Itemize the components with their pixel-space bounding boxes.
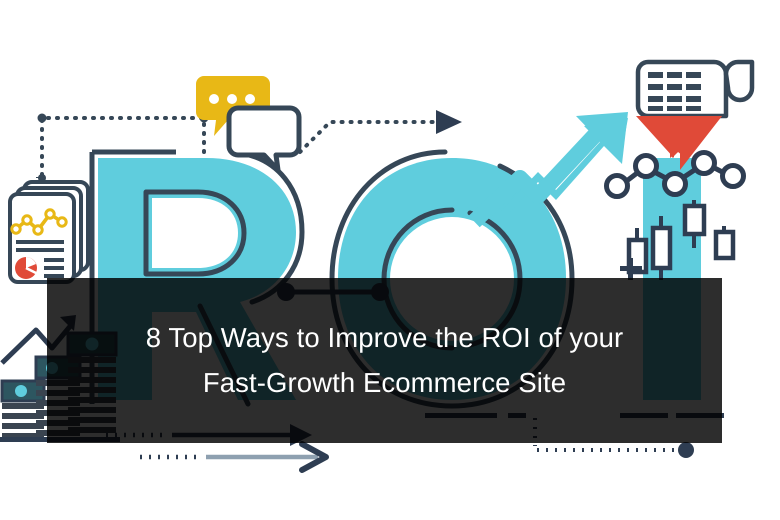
hero-banner-image: 8 Top Ways to Improve the ROI of your Fa… — [0, 0, 780, 520]
page-title: 8 Top Ways to Improve the ROI of your Fa… — [146, 316, 624, 405]
title-overlay-band: 8 Top Ways to Improve the ROI of your Fa… — [47, 278, 722, 443]
connector-node — [38, 114, 47, 123]
document-stack-icon — [10, 176, 88, 282]
